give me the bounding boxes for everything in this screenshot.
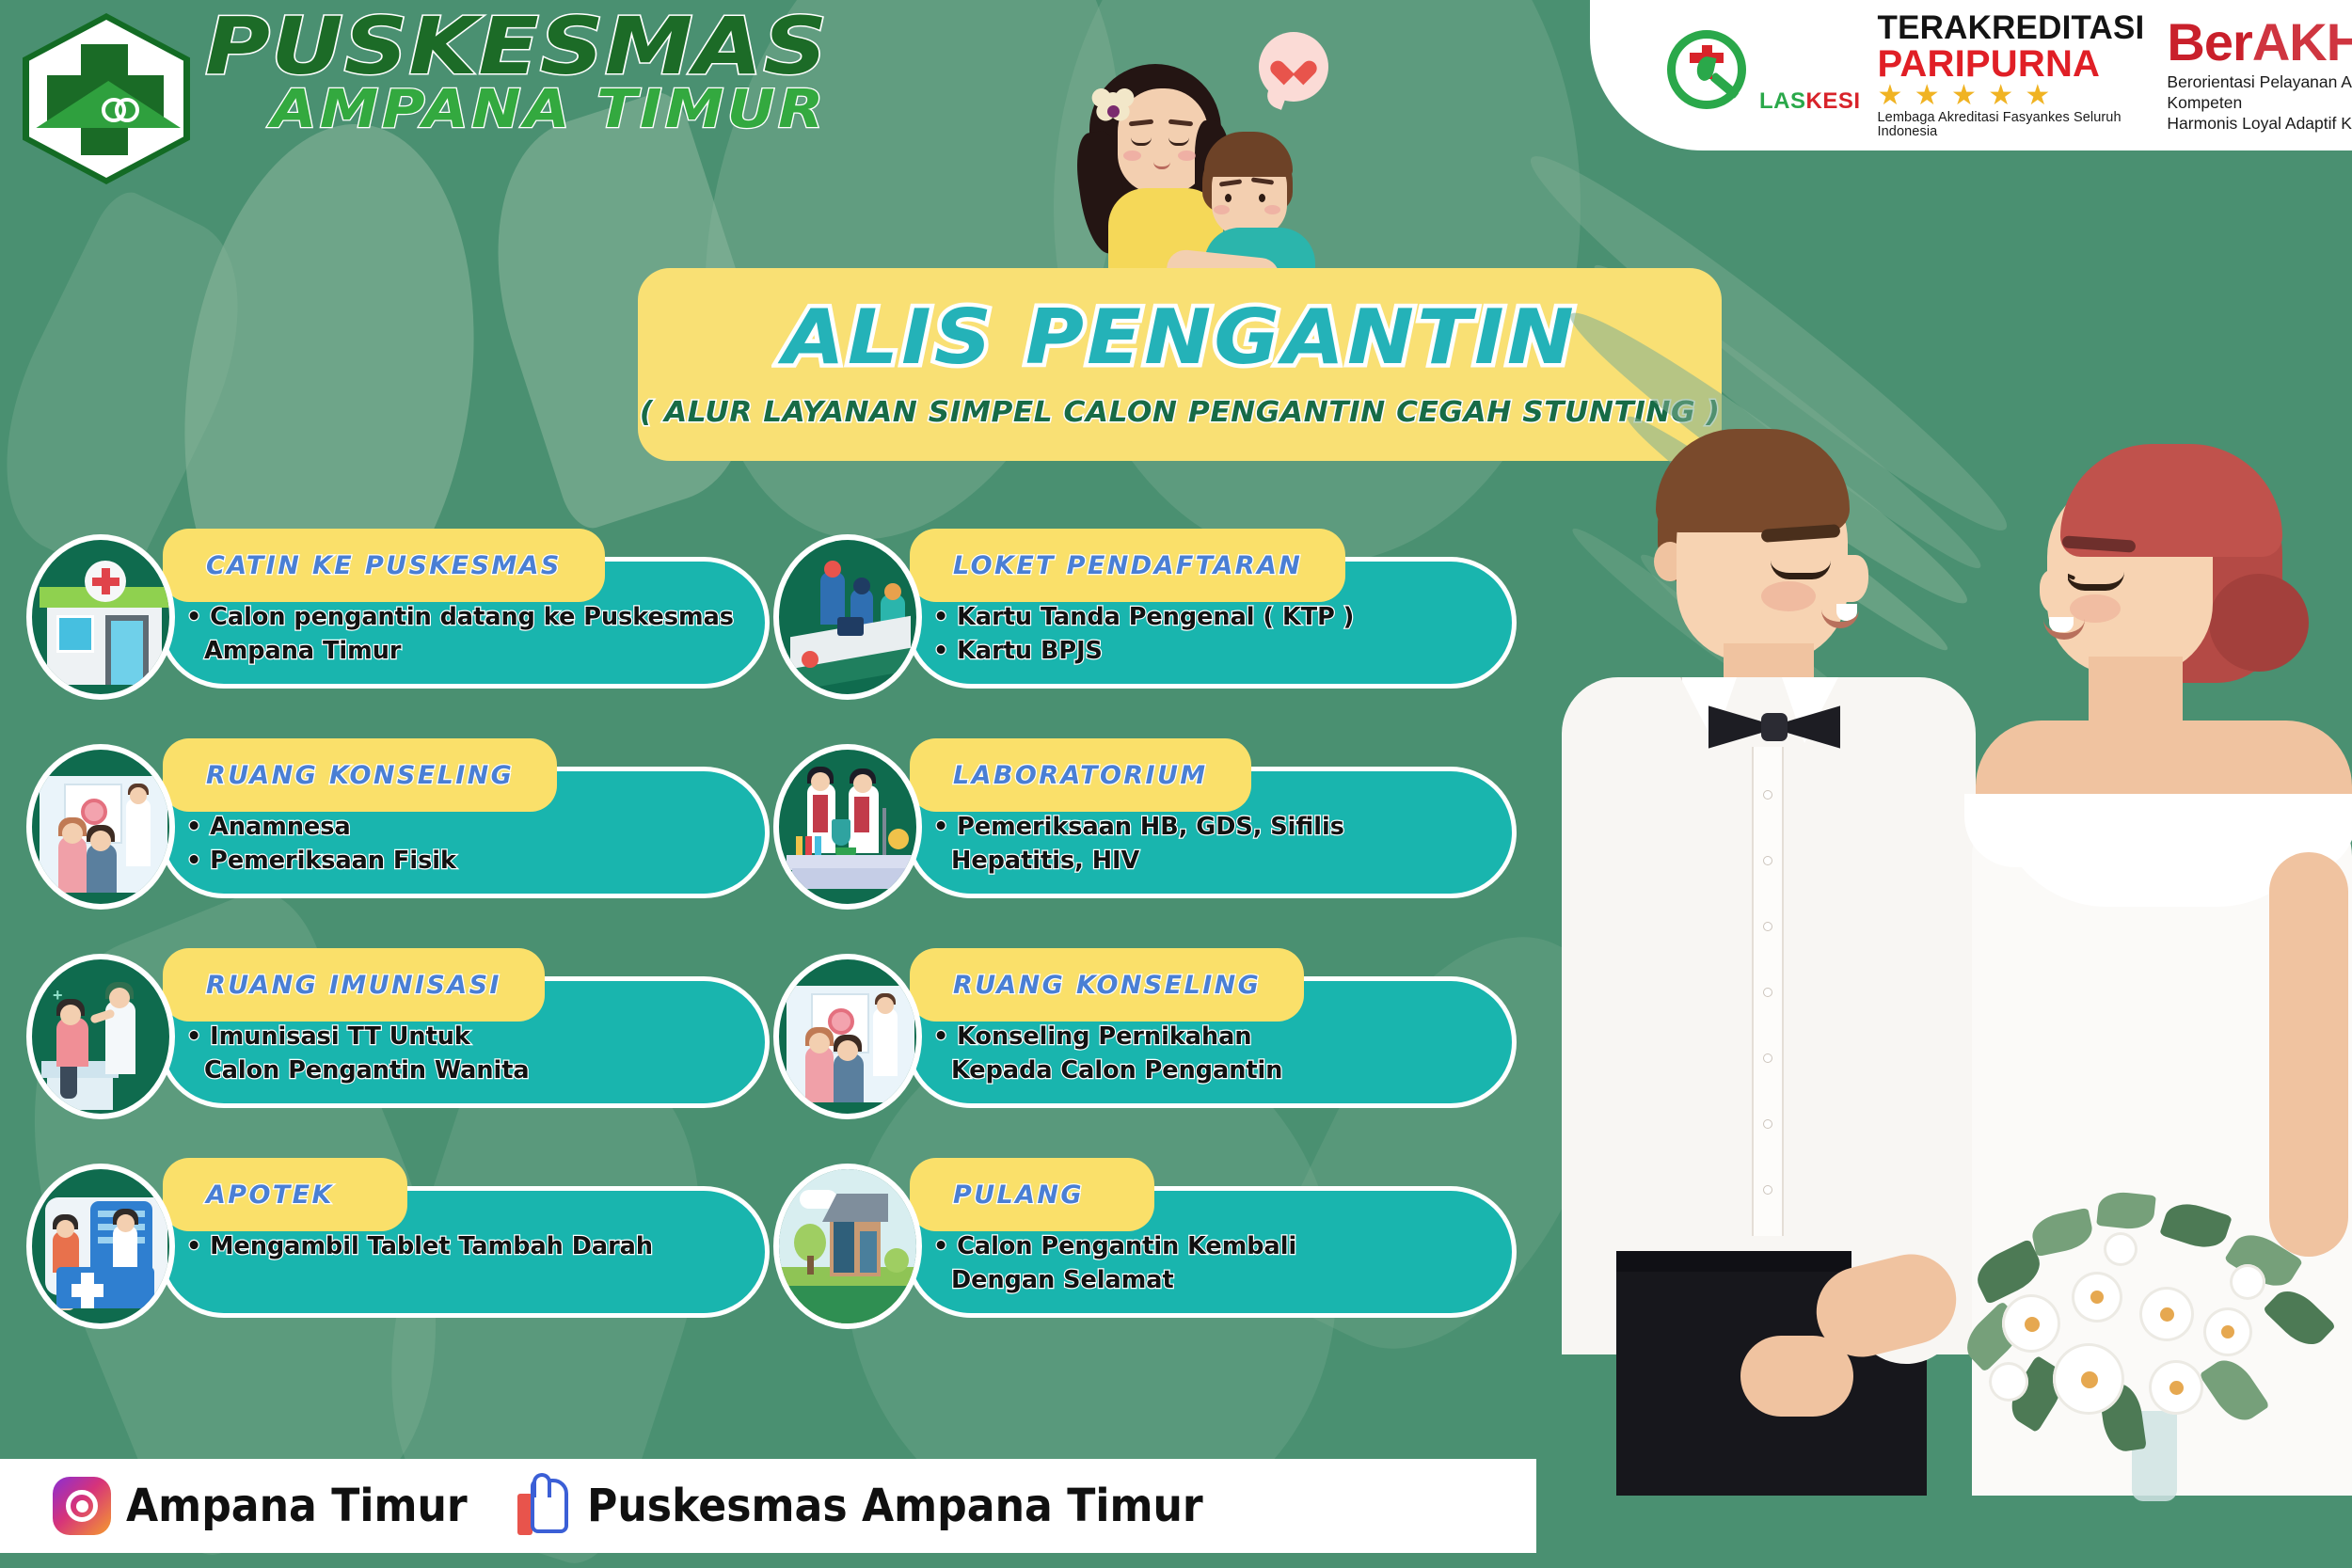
step-label-pill: RUANG KONSELING bbox=[163, 738, 557, 812]
step-line: • Imunisasi TT Untuk bbox=[186, 1020, 738, 1053]
berakhlak-title-a: Ber bbox=[2167, 12, 2251, 71]
berakhlak-subtitle: Berorientasi Pelayanan Akuntabel Kompete… bbox=[2167, 72, 2352, 135]
step-text: • Konseling Pernikahan Kepada Calon Peng… bbox=[933, 1020, 1485, 1087]
accreditation-text: TERAKREDITASI PARIPURNA ★ ★ ★ ★ ★ Lembag… bbox=[1878, 11, 2145, 139]
bow-tie-icon bbox=[1708, 702, 1840, 752]
step-card[interactable]: LOKET PENDAFTARAN bbox=[773, 529, 1517, 705]
home-icon bbox=[773, 1164, 922, 1329]
laskesi-logo-icon: LASKESI bbox=[1663, 28, 1861, 122]
step-label: RUANG KONSELING bbox=[953, 971, 1261, 1000]
steps-column-left: CATIN KE PUSKESMAS • Calon p bbox=[26, 529, 770, 1368]
step-card[interactable]: RUANG KONSELING bbox=[26, 738, 770, 915]
hugging-couple-illustration bbox=[1063, 19, 1327, 301]
step-card[interactable]: PULANG bbox=[773, 1158, 1517, 1335]
accreditation-stars: ★ ★ ★ ★ ★ bbox=[1878, 82, 2145, 111]
step-line: • Calon Pengantin Kembali bbox=[933, 1229, 1485, 1263]
registration-desk-icon bbox=[773, 534, 922, 700]
accreditation-plate: LASKESI TERAKREDITASI PARIPURNA ★ ★ ★ ★ … bbox=[1590, 0, 2352, 150]
laskesi-kesi: KESI bbox=[1806, 88, 1861, 114]
page-title: ALIS PENGANTIN bbox=[783, 300, 1577, 375]
berakhlak-line-1: Berorientasi Pelayanan Akuntabel Kompete… bbox=[2167, 72, 2352, 114]
step-line: • Mengambil Tablet Tambah Darah bbox=[186, 1229, 738, 1263]
step-label: APOTEK bbox=[206, 1180, 334, 1210]
counseling-room-icon bbox=[26, 744, 175, 910]
immunization-icon: + bbox=[26, 954, 175, 1119]
step-line: Calon Pengantin Wanita bbox=[204, 1053, 738, 1087]
step-label: PULANG bbox=[953, 1180, 1084, 1210]
step-label: CATIN KE PUSKESMAS bbox=[206, 551, 562, 580]
step-text: • Calon Pengantin Kembali Dengan Selamat bbox=[933, 1229, 1485, 1297]
step-label: LABORATORIUM bbox=[953, 761, 1208, 790]
step-card[interactable]: RUANG KONSELING bbox=[773, 948, 1517, 1125]
accreditation-paripurna: PARIPURNA bbox=[1878, 45, 2145, 84]
step-label-pill: APOTEK bbox=[163, 1158, 407, 1231]
step-card[interactable]: RUANG IMUNISASI + bbox=[26, 948, 770, 1125]
berakhlak-line-2: Harmonis Loyal Adaptif Kolaboratif bbox=[2167, 114, 2352, 135]
step-line: Hepatitis, HIV bbox=[951, 844, 1485, 878]
step-label-pill: PULANG bbox=[910, 1158, 1154, 1231]
step-label-pill: CATIN KE PUSKESMAS bbox=[163, 529, 605, 602]
heart-icon bbox=[1279, 51, 1308, 76]
step-label-pill: LOKET PENDAFTARAN bbox=[910, 529, 1345, 602]
step-text: • Imunisasi TT Untuk Calon Pengantin Wan… bbox=[186, 1020, 738, 1087]
flower-icon bbox=[1093, 92, 1133, 132]
step-line: • Konseling Pernikahan bbox=[933, 1020, 1485, 1053]
pharmacy-icon bbox=[26, 1164, 175, 1329]
step-text: • Pemeriksaan HB, GDS, Sifilis Hepatitis… bbox=[933, 810, 1485, 878]
step-label: RUANG IMUNISASI bbox=[206, 971, 501, 1000]
step-line: • Anamnesa bbox=[186, 810, 738, 844]
step-label: RUANG KONSELING bbox=[206, 761, 514, 790]
step-line: Ampana Timur bbox=[204, 634, 738, 668]
step-line: • Calon pengantin datang ke Puskesmas bbox=[186, 600, 738, 634]
counseling-room-icon bbox=[773, 954, 922, 1119]
berakhlak-title-b: AKHLA bbox=[2252, 12, 2352, 71]
brand-title-bottom: AMPANA TIMUR bbox=[271, 79, 827, 140]
step-text: • Anamnesa • Pemeriksaan Fisik bbox=[186, 810, 738, 878]
brand-title-top: PUSKESMAS bbox=[205, 8, 834, 85]
step-label-pill: RUANG KONSELING bbox=[910, 948, 1304, 1022]
step-text: • Mengambil Tablet Tambah Darah bbox=[186, 1229, 738, 1263]
facebook-page-name[interactable]: Puskesmas Ampana Timur bbox=[587, 1480, 1203, 1532]
berakhlak-logo: BerAKHLAK Berorientasi Pelayanan Akuntab… bbox=[2167, 16, 2352, 135]
instagram-handle[interactable]: Ampana Timur bbox=[126, 1480, 468, 1532]
step-line: • Pemeriksaan HB, GDS, Sifilis bbox=[933, 810, 1485, 844]
step-label-pill: LABORATORIUM bbox=[910, 738, 1251, 812]
step-card[interactable]: APOTEK bbox=[26, 1158, 770, 1335]
laskesi-las: LAS bbox=[1759, 88, 1806, 114]
laskesi-label: LASKESI bbox=[1759, 88, 1861, 115]
step-line: Kepada Calon Pengantin bbox=[951, 1053, 1485, 1087]
berakhlak-title: BerAKHLAK bbox=[2167, 16, 2352, 69]
steps-column-right: LOKET PENDAFTARAN bbox=[773, 529, 1517, 1368]
clinic-building-icon bbox=[26, 534, 175, 700]
step-label-pill: RUANG IMUNISASI bbox=[163, 948, 545, 1022]
step-card[interactable]: LABORATORIUM bbox=[773, 738, 1517, 915]
social-footer: Ampana Timur Puskesmas Ampana Timur bbox=[0, 1459, 1536, 1553]
accreditation-lembaga: Lembaga Akreditasi Fasyankes Seluruh Ind… bbox=[1878, 111, 2145, 139]
step-text: • Kartu Tanda Pengenal ( KTP ) • Kartu B… bbox=[933, 600, 1485, 668]
step-line: • Pemeriksaan Fisik bbox=[186, 844, 738, 878]
step-card[interactable]: CATIN KE PUSKESMAS • Calon p bbox=[26, 529, 770, 705]
facebook-thumbs-up-icon[interactable] bbox=[517, 1477, 572, 1535]
step-line: Dengan Selamat bbox=[951, 1263, 1485, 1297]
step-text: • Calon pengantin datang ke Puskesmas Am… bbox=[186, 600, 738, 668]
puskesmas-logo-icon bbox=[23, 13, 190, 184]
brand-wordmark: PUSKESMAS AMPANA TIMUR bbox=[205, 8, 767, 140]
step-label: LOKET PENDAFTARAN bbox=[953, 551, 1302, 580]
laboratory-icon bbox=[773, 744, 922, 910]
instagram-icon[interactable] bbox=[53, 1477, 111, 1535]
accreditation-terakreditasi: TERAKREDITASI bbox=[1878, 11, 2145, 45]
step-line: • Kartu BPJS bbox=[933, 634, 1485, 668]
step-line: • Kartu Tanda Pengenal ( KTP ) bbox=[933, 600, 1485, 634]
bridal-bouquet-icon bbox=[1947, 1185, 2352, 1496]
infographic-poster: PUSKESMAS AMPANA TIMUR LASKESI TERAKREDI… bbox=[0, 0, 2352, 1568]
wedding-couple-illustration bbox=[1505, 395, 2352, 1477]
steps-grid: CATIN KE PUSKESMAS • Calon p bbox=[0, 529, 1524, 1347]
